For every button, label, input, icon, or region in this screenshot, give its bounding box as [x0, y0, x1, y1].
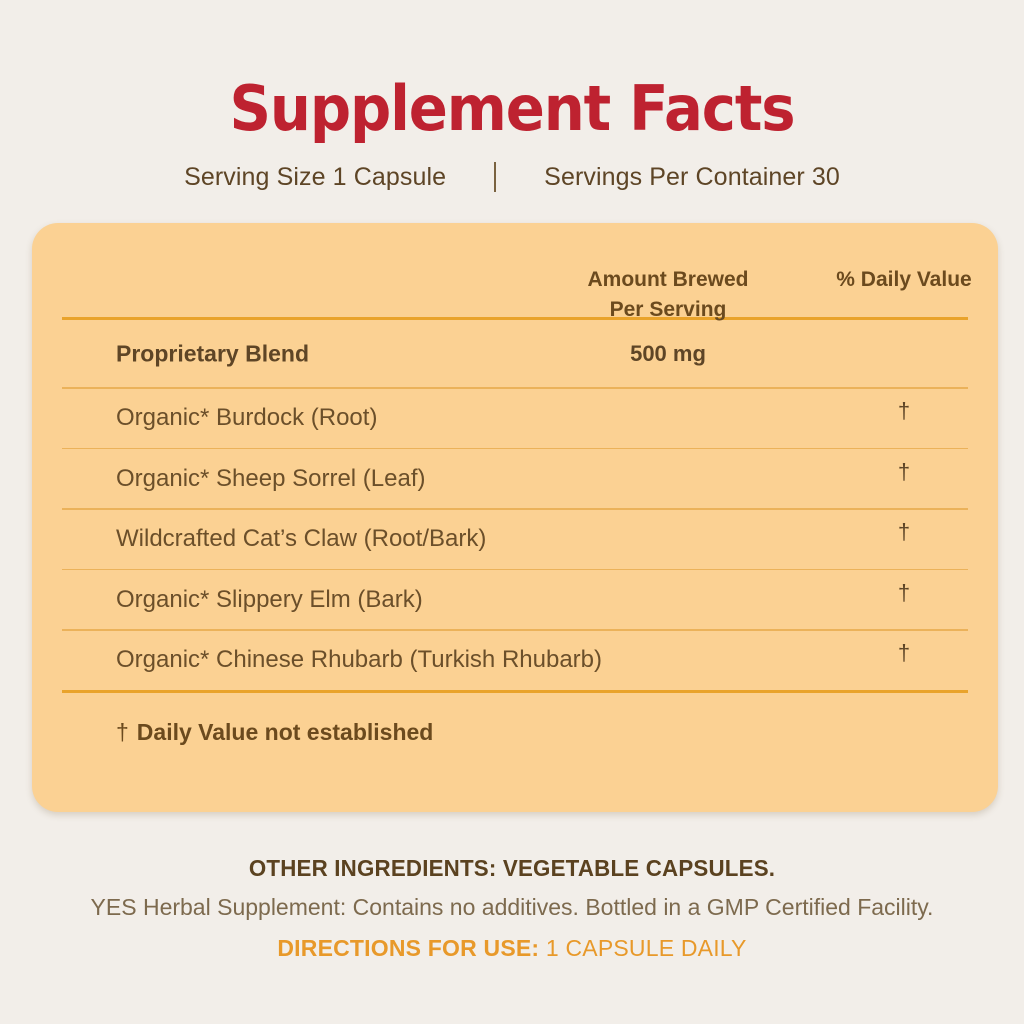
facility-note: YES Herbal Supplement: Contains no addit…	[0, 894, 1024, 921]
directions-for-use: DIRECTIONS FOR USE: 1 CAPSULE DAILY	[0, 935, 1024, 962]
supplement-facts-label: Supplement Facts Serving Size 1 Capsule …	[0, 0, 1024, 1024]
footnote: †Daily Value not established	[62, 693, 968, 746]
ingredient-daily-value: †	[804, 646, 1004, 674]
table-row: Wildcrafted Cat’s Claw (Root/Bark) †	[62, 510, 968, 569]
ingredient-daily-value: †	[804, 525, 1004, 553]
dagger-icon: †	[898, 519, 910, 544]
ingredient-label: Organic* Slippery Elm (Bark)	[116, 586, 423, 614]
ingredient-label: Wildcrafted Cat’s Claw (Root/Bark)	[116, 525, 486, 553]
table-row: Organic* Burdock (Root) †	[62, 389, 968, 448]
footnote-dagger-icon: †	[116, 719, 129, 745]
ingredient-label: Organic* Chinese Rhubarb (Turkish Rhubar…	[116, 646, 602, 674]
servings-per-container: Servings Per Container 30	[544, 163, 840, 192]
bottom-info: OTHER INGREDIENTS: VEGETABLE CAPSULES. Y…	[0, 855, 1024, 962]
dagger-icon: †	[898, 580, 910, 605]
table-row: Organic* Sheep Sorrel (Leaf) †	[62, 449, 968, 508]
serving-divider	[494, 162, 496, 192]
blend-amount: 500 mg	[562, 341, 774, 367]
blend-label: Proprietary Blend	[116, 340, 309, 367]
other-ingredients: OTHER INGREDIENTS: VEGETABLE CAPSULES.	[15, 855, 1008, 882]
table-header-row: Amount Brewed Per Serving % Daily Value	[62, 223, 968, 317]
table-row-proprietary-blend: Proprietary Blend 500 mg	[62, 320, 968, 387]
column-header-daily-value: % Daily Value	[804, 265, 1004, 295]
ingredient-daily-value: †	[804, 404, 1004, 432]
dagger-icon: †	[898, 640, 910, 665]
page-title: Supplement Facts	[36, 0, 988, 140]
directions-label: DIRECTIONS FOR USE:	[277, 935, 539, 961]
serving-size: Serving Size 1 Capsule	[184, 163, 446, 192]
column-header-amount: Amount Brewed Per Serving	[562, 265, 774, 325]
ingredient-daily-value: †	[804, 586, 1004, 614]
footnote-text: Daily Value not established	[137, 719, 434, 745]
ingredient-daily-value: †	[804, 465, 1004, 493]
serving-info: Serving Size 1 Capsule Servings Per Cont…	[0, 162, 1024, 192]
table-row: Organic* Slippery Elm (Bark) †	[62, 570, 968, 629]
dagger-icon: †	[898, 459, 910, 484]
column-header-amount-line1: Amount Brewed	[562, 265, 774, 295]
table-row: Organic* Chinese Rhubarb (Turkish Rhubar…	[62, 631, 968, 690]
ingredient-label: Organic* Burdock (Root)	[116, 404, 377, 432]
directions-value: 1 CAPSULE DAILY	[546, 935, 747, 961]
dagger-icon: †	[898, 398, 910, 423]
ingredient-label: Organic* Sheep Sorrel (Leaf)	[116, 465, 426, 493]
facts-panel: Amount Brewed Per Serving % Daily Value …	[32, 223, 998, 812]
